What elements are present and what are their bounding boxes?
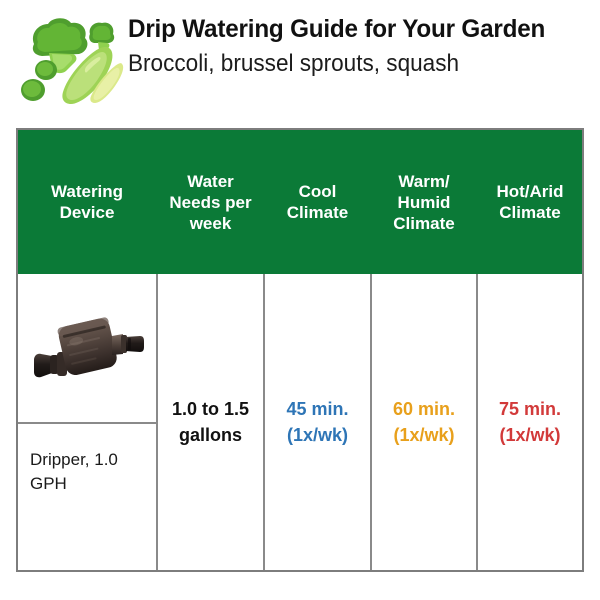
column-header-water-needs: Water Needs per week <box>156 130 263 274</box>
cool-climate-line1: 45 min. <box>286 396 348 422</box>
device-image-area <box>18 274 156 424</box>
column-header-hot-arid-climate-line2: Climate <box>496 202 563 223</box>
watering-guide-table: Watering Device Water Needs per week Coo… <box>16 128 584 572</box>
page-subtitle: Broccoli, brussel sprouts, squash <box>128 49 566 78</box>
column-header-water-needs-line2: Needs per <box>169 192 251 213</box>
column-header-hot-arid-climate: Hot/Arid Climate <box>476 130 582 274</box>
column-header-hot-arid-climate-line1: Hot/Arid <box>496 181 563 202</box>
water-needs-line2: gallons <box>172 422 249 448</box>
cell-cool-climate: 45 min. (1x/wk) <box>263 274 370 570</box>
warm-humid-climate-line2: (1x/wk) <box>393 422 455 448</box>
title-block: Drip Watering Guide for Your Garden Broc… <box>128 14 594 78</box>
hot-arid-climate-line2: (1x/wk) <box>499 422 561 448</box>
column-header-warm-humid-climate-line2: Humid <box>393 192 454 213</box>
column-header-watering-device-line2: Device <box>51 202 123 223</box>
cell-watering-device: Dripper, 1.0 GPH <box>18 274 156 570</box>
table-row: Dripper, 1.0 GPH 1.0 to 1.5 gallons 45 m… <box>18 274 582 570</box>
cell-water-needs: 1.0 to 1.5 gallons <box>156 274 263 570</box>
column-header-watering-device: Watering Device <box>18 130 156 274</box>
column-header-warm-humid-climate: Warm/ Humid Climate <box>370 130 476 274</box>
column-header-cool-climate: Cool Climate <box>263 130 370 274</box>
cell-warm-humid-climate: 60 min. (1x/wk) <box>370 274 476 570</box>
table-header-row: Watering Device Water Needs per week Coo… <box>18 130 582 274</box>
column-header-warm-humid-climate-line3: Climate <box>393 213 454 234</box>
cool-climate-line2: (1x/wk) <box>286 422 348 448</box>
vegetables-icon <box>16 12 128 112</box>
water-needs-line1: 1.0 to 1.5 <box>172 396 249 422</box>
warm-humid-climate-line1: 60 min. <box>393 396 455 422</box>
column-header-watering-device-line1: Watering <box>51 181 123 202</box>
column-header-water-needs-line3: week <box>169 213 251 234</box>
cell-hot-arid-climate: 75 min. (1x/wk) <box>476 274 582 570</box>
dripper-emitter-icon <box>28 306 146 390</box>
column-header-cool-climate-line1: Cool <box>287 181 348 202</box>
column-header-warm-humid-climate-line1: Warm/ <box>393 171 454 192</box>
hot-arid-climate-line1: 75 min. <box>499 396 561 422</box>
page-header: Drip Watering Guide for Your Garden Broc… <box>0 0 600 120</box>
device-label: Dripper, 1.0 GPH <box>30 450 118 493</box>
page-title: Drip Watering Guide for Your Garden <box>128 14 580 44</box>
device-label-area: Dripper, 1.0 GPH <box>18 424 156 570</box>
column-header-cool-climate-line2: Climate <box>287 202 348 223</box>
column-header-water-needs-line1: Water <box>169 171 251 192</box>
